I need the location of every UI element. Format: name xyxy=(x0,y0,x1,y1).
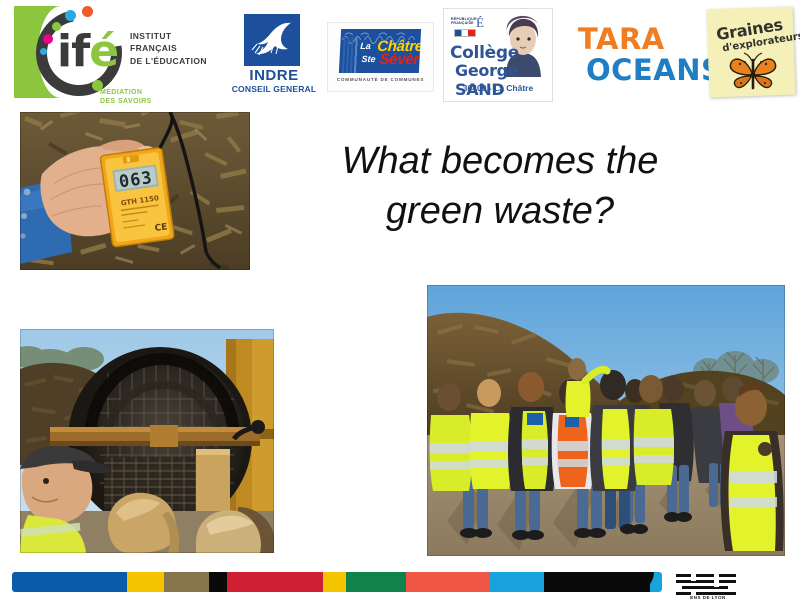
la-chatre-subtitle: COMMUNAUTÉ DE COMMUNES xyxy=(328,77,433,82)
footer-color-segment xyxy=(227,572,323,592)
footer-color-segment xyxy=(127,572,164,592)
footer-color-segment xyxy=(406,572,490,592)
footer-color-segment xyxy=(12,572,127,592)
photo-students-at-compost-site xyxy=(427,285,785,556)
tara-line2: OCEANS xyxy=(586,53,722,87)
slide-title: What becomes the green waste? xyxy=(288,136,712,236)
ife-dot-pink-icon xyxy=(43,34,53,44)
thermometer-photo-svg: 063 GTH 1150 CE xyxy=(20,112,250,270)
la-chatre-blue-panel: La Châtre Ste Sévère xyxy=(339,29,421,73)
ife-dot-orange-icon xyxy=(82,6,93,17)
la-chatre-line4: Sévère xyxy=(379,51,421,68)
logo-graines-d-explorateurs: Graines d'explorateurs xyxy=(706,6,798,102)
ife-wordmark: ifé xyxy=(57,30,118,74)
ife-dot-blue-icon xyxy=(65,10,76,21)
footer-color-segment xyxy=(323,572,346,592)
ife-institute-lines: INSTITUT FRANÇAIS DE L'ÉDUCATION xyxy=(130,30,207,67)
logo-ife: ifé INSTITUT FRANÇAIS DE L'ÉDUCATION MÉD… xyxy=(12,4,212,104)
logo-la-chatre: La Châtre Ste Sévère COMMUNAUTÉ DE COMMU… xyxy=(327,22,434,92)
ife-dot-blue-small-icon xyxy=(40,48,47,55)
photo-trommel-sifter-machine xyxy=(20,329,274,553)
logo-indre: INDRE CONSEIL GENERAL xyxy=(228,14,320,102)
students-photo-svg xyxy=(427,285,785,556)
logo-college-george-sand: RÉPUBLIQUE FRANÇAISE É Collège George SA… xyxy=(443,8,553,102)
svg-text:CE: CE xyxy=(154,222,168,234)
ife-wordmark-base: if xyxy=(57,26,89,77)
header-logo-strip: ifé INSTITUT FRANÇAIS DE L'ÉDUCATION MÉD… xyxy=(0,0,800,110)
french-flag-icon xyxy=(454,29,476,37)
indre-title: INDRE xyxy=(228,67,320,84)
footer: ENS DE LYON xyxy=(0,565,800,600)
ens-logo-caption: ENS DE LYON xyxy=(676,595,740,600)
footer-color-bar xyxy=(12,565,662,600)
college-line1: Collège xyxy=(450,43,519,63)
photo-thermometer-in-compost: 063 GTH 1150 CE xyxy=(20,112,250,270)
marianne-e-letter: É xyxy=(476,15,484,31)
la-chatre-line3: Ste xyxy=(361,54,376,64)
footer-color-segment xyxy=(490,572,544,592)
slide-canvas: ifé INSTITUT FRANÇAIS DE L'ÉDUCATION MÉD… xyxy=(0,0,800,600)
indre-blue-square xyxy=(244,14,300,66)
la-chatre-line1: La xyxy=(360,41,371,51)
footer-color-segment xyxy=(209,572,227,592)
college-line3: 36400 - La Châtre xyxy=(444,83,552,93)
ens-de-lyon-logo xyxy=(676,573,736,597)
footer-color-segment xyxy=(346,572,406,592)
sifter-photo-svg xyxy=(20,329,274,553)
indre-subtitle: CONSEIL GENERAL xyxy=(228,84,320,94)
college-line2: George SAND xyxy=(455,61,552,99)
ife-tagline: MÉDIATION DES SAVOIRS xyxy=(100,88,152,106)
tara-line1: TARA xyxy=(578,22,665,56)
marianne-emblem: RÉPUBLIQUE FRANÇAISE É xyxy=(450,15,490,39)
footer-color-segment xyxy=(164,572,209,592)
dove-icon xyxy=(250,19,296,61)
butterfly-icon xyxy=(726,52,780,94)
marianne-text: RÉPUBLIQUE FRANÇAISE xyxy=(451,17,477,26)
ife-wordmark-accent: é xyxy=(89,26,118,77)
la-chatre-tree-icon xyxy=(342,37,360,73)
logo-tara-oceans: TARA OCEANS xyxy=(578,22,703,92)
